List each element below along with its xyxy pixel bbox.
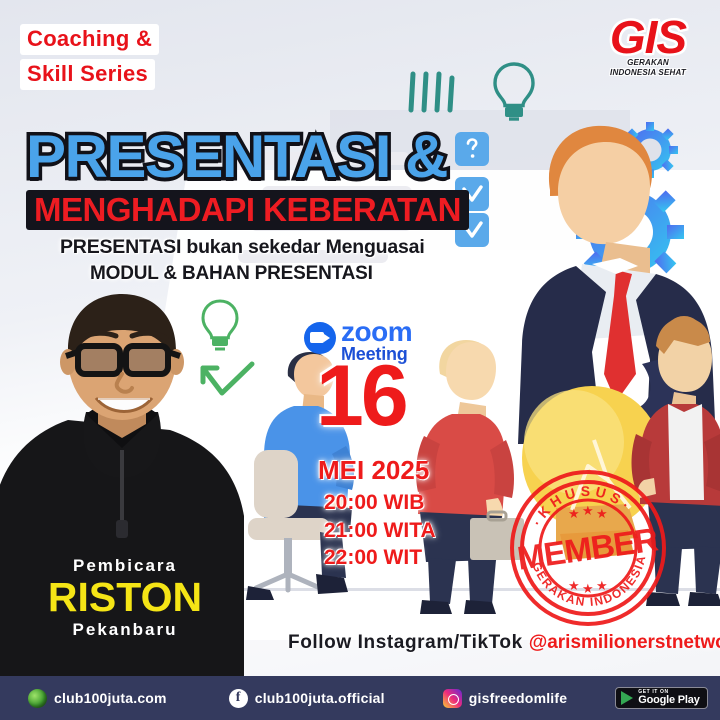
headline-desc-1: PRESENTASI bukan sekedar Menguasai — [26, 236, 476, 259]
footer-item-website[interactable]: club100juta.com — [28, 689, 167, 708]
footer-bar: club100juta.com f club100juta.official g… — [0, 676, 720, 720]
speaker-name: RISTON — [0, 577, 250, 619]
tally-marks-decoration — [408, 70, 468, 116]
svg-text:★: ★ — [596, 578, 608, 593]
speaker-role: Pembicara — [0, 556, 250, 576]
globe-icon — [28, 689, 47, 708]
svg-text:★: ★ — [568, 506, 580, 521]
follow-prefix: Follow Instagram/TikTok — [288, 632, 523, 653]
tagline: Coaching & Skill Series — [20, 24, 159, 90]
svg-text:★: ★ — [582, 503, 594, 518]
facebook-icon: f — [229, 689, 248, 708]
event-month-year: MEI 2025 — [318, 455, 429, 486]
zoom-logo-word: zoom — [341, 320, 412, 344]
google-play-large-text: Google Play — [638, 695, 699, 706]
speaker-caption: Pembicara RISTON Pekanbaru — [0, 556, 250, 640]
play-triangle-icon — [621, 691, 633, 705]
event-time-wib: 20:00 WIB — [324, 489, 436, 517]
tagline-line-1: Coaching & — [20, 24, 159, 55]
event-times: 20:00 WIB 21:00 WITA 22:00 WIT — [324, 489, 436, 572]
follow-line: Follow Instagram/TikTok @arismilionerstn… — [288, 632, 720, 654]
svg-text:★: ★ — [596, 506, 608, 521]
member-stamp: ·KHUSUS· GERAKAN INDONESIA SEHAT ★★★ ★★★… — [508, 468, 668, 628]
follow-handle[interactable]: @arismilionerstnetwork — [529, 632, 720, 653]
headline-desc-2: MODUL & BAHAN PRESENTASI — [26, 263, 476, 285]
google-play-badge[interactable]: GET IT ON Google Play — [615, 687, 707, 709]
headline-sub: MENGHADAPI KEBERATAN — [34, 193, 461, 226]
gis-logo: GIS GERAKANINDONESIA SEHAT — [594, 12, 702, 84]
footer-item-instagram[interactable]: gisfreedomlife — [443, 689, 568, 708]
headline-sub-band: MENGHADAPI KEBERATAN — [26, 190, 469, 230]
footer-facebook-label: club100juta.official — [255, 690, 385, 706]
event-day: 16 — [316, 360, 406, 433]
svg-text:★: ★ — [582, 581, 594, 596]
event-time-wita: 21:00 WITA — [324, 517, 436, 545]
instagram-icon — [443, 689, 462, 708]
tagline-line-2: Skill Series — [20, 59, 155, 90]
footer-instagram-label: gisfreedomlife — [469, 690, 568, 706]
footer-item-facebook[interactable]: f club100juta.official — [229, 689, 385, 708]
footer-website-label: club100juta.com — [54, 690, 167, 706]
gis-logo-text: GIS — [594, 10, 702, 64]
footer-item-app[interactable]: GET IT ON Google Play Club100Juta GIS — [615, 687, 720, 709]
event-time-wit: 22:00 WIT — [324, 544, 436, 572]
gis-logo-subtitle: GERAKANINDONESIA SEHAT — [594, 58, 702, 78]
headline-main: PRESENTASI & — [26, 128, 476, 187]
speaker-city: Pekanbaru — [0, 620, 250, 640]
promo-poster: Coaching & Skill Series GIS GERAKANINDON… — [0, 0, 720, 720]
headline-block: PRESENTASI & MENGHADAPI KEBERATAN PRESEN… — [26, 128, 476, 285]
svg-text:★: ★ — [568, 578, 580, 593]
